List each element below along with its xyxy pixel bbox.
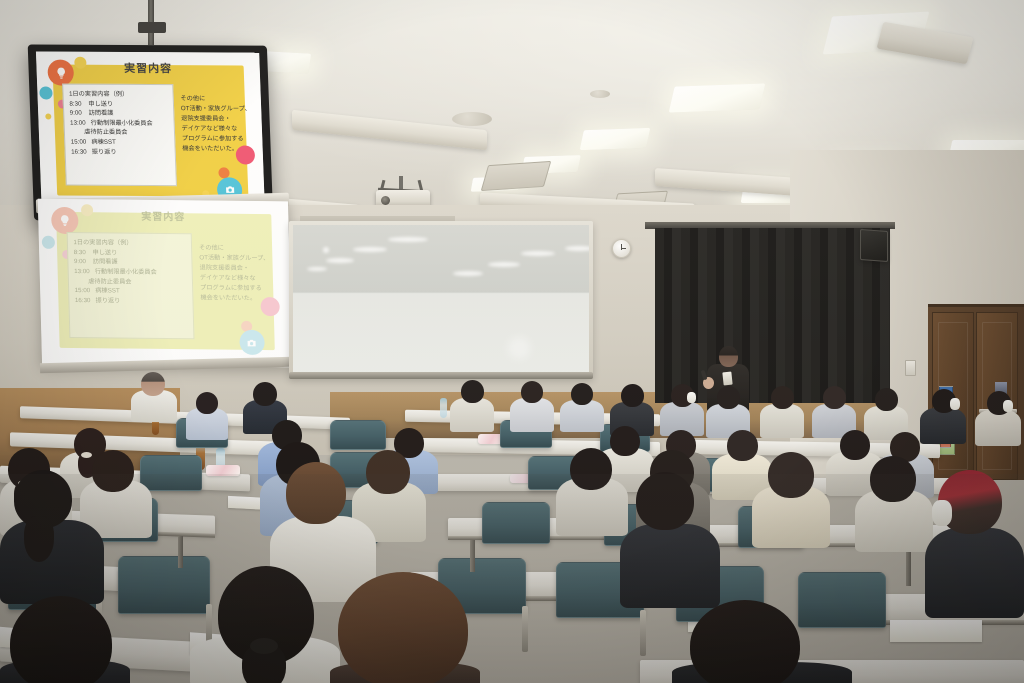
attendee-head [521,381,543,403]
attendee-head [461,380,484,403]
floral-pouch [206,465,240,476]
attendee-head [196,392,218,414]
attendee-head [141,372,165,396]
table-leg [178,536,183,568]
ceiling-speaker [590,90,610,98]
attendee-head [366,450,410,494]
whiteboard-reflection [521,251,555,256]
table-leg [906,548,911,586]
ceiling-light-panel [669,83,766,112]
slide-title: 実習内容 [38,207,289,225]
attendee-body [920,408,966,444]
attendee-head [768,452,814,498]
chair-frame [640,610,646,656]
ceiling-speaker [452,112,492,126]
chair [118,556,210,614]
attendee-head [621,384,644,407]
slide-note-text: その他に OT活動・家族グループ、 退院支援委員会・ デイケアなど様々な プログ… [180,94,256,155]
hair-tie [81,452,92,458]
chair [482,502,550,544]
light-switch-panel[interactable] [905,360,916,376]
pull-down-projection-screen: 実習内容 1日の実習内容（例） 8:30 申し送り 9:00 訪問看護 13:0… [38,199,292,368]
attendee-head [338,572,468,683]
attendee-head [875,388,898,411]
whiteboard-reflection [323,247,329,253]
attendee-head [840,430,870,460]
ponytail [24,516,54,562]
ceiling-vent [481,161,552,191]
slide-on-monitor: 実習内容 1日の実習内容（例） 8:30 申し送り 9:00 訪問看護 13:0… [36,51,265,212]
attendee-body [975,410,1021,446]
attendee-body [620,524,720,608]
whiteboard-reflection [565,246,589,251]
chair-frame [522,606,528,652]
tv-mount-bracket [138,22,166,33]
face-mask [950,398,960,410]
attendee-head [690,600,800,683]
whiteboard-reflection [353,247,387,252]
ceiling-light-panel [580,128,651,150]
presenter-name-badge [722,372,732,386]
whiteboard-reflection [388,237,428,242]
face-mask [1003,400,1013,412]
slide-schedule-text: 1日の実習内容（例） 8:30 申し送り 9:00 訪問看護 13:00 行動制… [67,233,192,311]
decor-dot-teal [39,87,52,100]
attendee-head [286,462,346,524]
attendee-head [610,426,640,456]
slide-schedule-text: 1日の実習内容（例） 8:30 申し送り 9:00 訪問看護 13:00 行動制… [63,85,175,162]
attendee-head [823,386,846,409]
chair [798,572,886,628]
slide-title: 実習内容 [36,59,260,76]
blackout-curtain [655,228,890,403]
attendee-head [571,383,593,405]
face-mask [687,392,696,403]
handout-paper [890,620,982,642]
whiteboard-surface [293,225,589,374]
whiteboard [289,221,593,378]
attendee-head [636,472,694,530]
whiteboard-marker-tray [289,372,593,379]
attendee-body [450,398,494,432]
projector-lens-icon [381,196,390,205]
whiteboard-reflection [326,258,354,263]
tv-screen: 実習内容 1日の実習内容（例） 8:30 申し送り 9:00 訪問看護 13:0… [36,51,265,212]
attendee-head [10,596,112,683]
presenter-head [719,346,738,367]
attendee-body [925,528,1024,618]
slide-on-projection-screen: 実習内容 1日の実習内容（例） 8:30 申し送り 9:00 訪問看護 13:0… [38,199,292,368]
whiteboard-reflection [488,262,520,267]
table-leg [470,540,475,572]
chair [330,420,386,450]
attendee-head [570,448,612,490]
camera-icon [239,330,265,355]
water-bottle [440,398,447,418]
attendee-head [870,456,916,502]
slide-schedule-box: 1日の実習内容（例） 8:30 申し送り 9:00 訪問看護 13:00 行動制… [66,232,194,340]
attendee-body [510,398,554,432]
slide-note-text: その他に OT活動・家族グループ、 退院支援委員会・ デイケアなど様々な プログ… [199,244,283,305]
attendee-head [771,386,794,409]
chair [140,455,202,491]
whiteboard-reflection [453,271,483,276]
attendee-head [253,382,277,406]
lecture-hall-photo: 実習内容 1日の実習内容（例） 8:30 申し送り 9:00 訪問看護 13:0… [0,0,1024,683]
decor-dot-teal [41,235,54,248]
hair-tie [250,638,278,654]
decor-dot-yellow [45,114,51,120]
whiteboard-reflection [508,337,530,359]
whiteboard-reflection [307,267,327,271]
attendee-body [760,404,804,438]
attendee-head [92,450,134,492]
slide-schedule-box: 1日の実習内容（例） 8:30 申し送り 9:00 訪問看護 13:00 行動制… [62,84,177,187]
attendee-head [717,386,740,409]
wall-clock [612,239,631,258]
attendee-head [727,430,758,461]
face-mask [932,500,952,526]
wall-mounted-speaker [860,229,888,262]
